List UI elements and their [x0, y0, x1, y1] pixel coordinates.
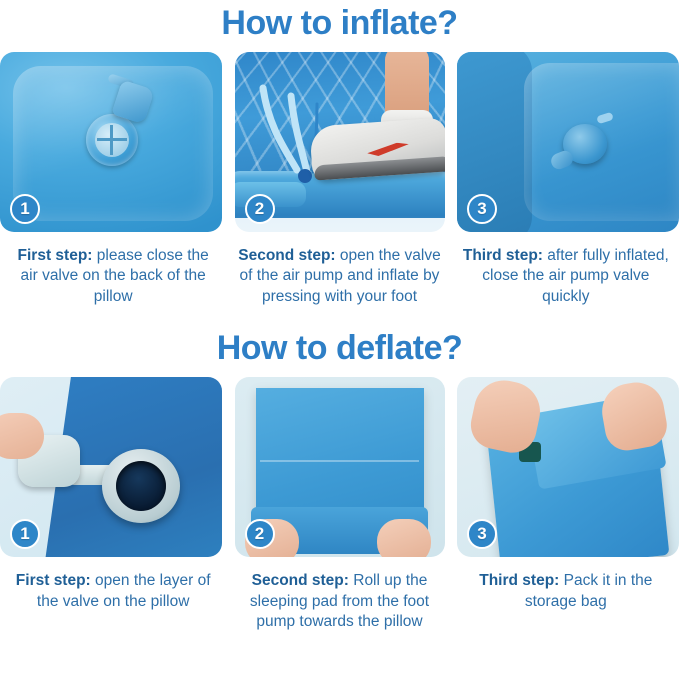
step-badge-2: 2	[245, 194, 275, 224]
heading-how-to-inflate: How to inflate?	[0, 0, 679, 40]
step-label: First step:	[16, 572, 91, 589]
inflate-caption-row: First step: please close the air valve o…	[0, 246, 679, 307]
step-label: Second step:	[238, 247, 335, 264]
step-label: First step:	[18, 247, 93, 264]
section-how-to-inflate: How to inflate? 1	[0, 0, 679, 307]
deflate-step-2-image: 2	[235, 377, 445, 557]
inflate-step-2-image: 2	[235, 52, 445, 232]
valve-bore	[116, 461, 166, 511]
deflate-step-1-image: 1	[0, 377, 222, 557]
deflate-panel-row: 1 2 3	[0, 377, 679, 557]
deflate-step-3-caption: Third step: Pack it in the storage bag	[453, 571, 679, 632]
inflate-step-3-image: 3	[457, 52, 679, 232]
deflate-step-2-caption: Second step: Roll up the sleeping pad fr…	[226, 571, 452, 632]
deflate-step-3-image: 3	[457, 377, 679, 557]
step-label: Third step:	[479, 572, 559, 589]
sneaker-logo	[366, 142, 409, 157]
inflate-step-1-image: 1	[0, 52, 222, 232]
inflate-step-3-caption: Third step: after fully inflated, close …	[453, 246, 679, 307]
valve-ring	[86, 114, 138, 166]
section-how-to-deflate: How to deflate? 1	[0, 325, 679, 632]
inflate-step-1-caption: First step: please close the air valve o…	[0, 246, 226, 307]
inflate-step-2-caption: Second step: open the valve of the air p…	[226, 246, 452, 307]
step-badge-1: 1	[10, 194, 40, 224]
heading-how-to-deflate: How to deflate?	[0, 325, 679, 365]
step-badge-2: 2	[245, 519, 275, 549]
deflate-step-1-caption: First step: open the layer of the valve …	[0, 571, 226, 632]
step-label: Second step:	[252, 572, 349, 589]
step-badge-3: 3	[467, 194, 497, 224]
inflate-panel-row: 1	[0, 52, 679, 232]
deflate-caption-row: First step: open the layer of the valve …	[0, 571, 679, 632]
sneaker	[309, 117, 445, 180]
right-hand	[377, 519, 431, 557]
pad-crease	[260, 460, 420, 462]
valve-membrane	[95, 123, 129, 157]
valve-opening	[102, 449, 180, 523]
step-label: Third step:	[463, 247, 543, 264]
